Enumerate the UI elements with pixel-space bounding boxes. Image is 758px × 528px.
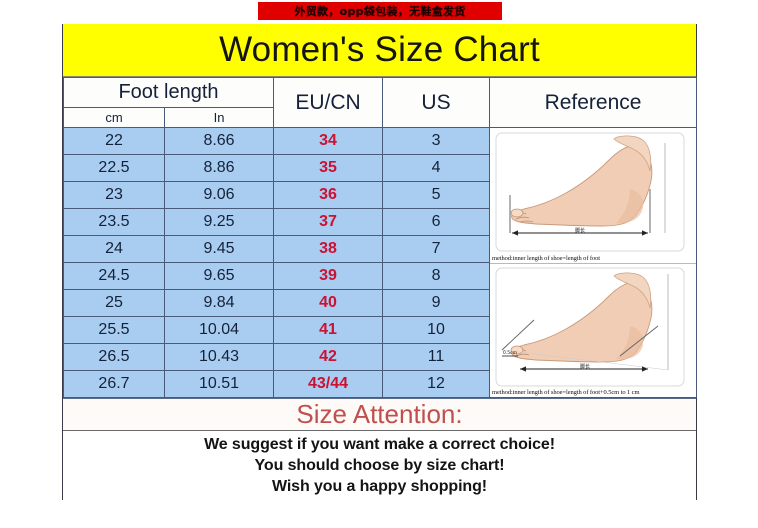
header-in: In: [165, 108, 274, 128]
cell-us: 12: [383, 371, 490, 398]
reference-caption-1: method:inner length of shoe=length of fo…: [492, 255, 600, 262]
promo-banner-text: 外贸款，opp袋包装，无鞋盒发货: [294, 3, 465, 19]
cell-cm: 25.5: [64, 317, 165, 344]
size-chart: Women's Size Chart Foot length EU/CN US …: [62, 24, 697, 500]
header-foot-length: Foot length: [64, 78, 274, 108]
cell-cm: 25: [64, 290, 165, 317]
cell-in: 9.06: [165, 182, 274, 209]
cell-in: 9.45: [165, 236, 274, 263]
svg-text:0.5cm: 0.5cm: [503, 350, 518, 356]
cell-in: 9.25: [165, 209, 274, 236]
chart-title-bar: Women's Size Chart: [63, 24, 696, 77]
attention-line-1: We suggest if you want make a correct ch…: [204, 436, 555, 454]
table-body: 22 8.66 34 3: [64, 128, 697, 398]
cell-eu-cn: 40: [274, 290, 383, 317]
attention-line-2: You should choose by size chart!: [255, 457, 505, 475]
cell-eu-cn: 37: [274, 209, 383, 236]
page-title: Women's Size Chart: [219, 30, 540, 70]
size-attention-heading: Size Attention:: [296, 399, 462, 430]
cell-cm: 22: [64, 128, 165, 155]
reference-images-cell: 脚长 method:inner length of shoe=length of…: [490, 128, 697, 398]
cell-us: 3: [383, 128, 490, 155]
cell-eu-cn: 36: [274, 182, 383, 209]
cell-cm: 24: [64, 236, 165, 263]
cell-eu-cn: 34: [274, 128, 383, 155]
table-row: 22 8.66 34 3: [64, 128, 697, 155]
cell-us: 11: [383, 344, 490, 371]
cell-us: 6: [383, 209, 490, 236]
header-eu-cn: EU/CN: [274, 78, 383, 128]
cell-in: 8.86: [165, 155, 274, 182]
reference-panel-2: 0.5cm 脚长 method:inner length of shoe=len…: [490, 263, 696, 397]
cell-in: 10.04: [165, 317, 274, 344]
promo-banner: 外贸款，opp袋包装，无鞋盒发货: [258, 2, 502, 20]
cell-cm: 23: [64, 182, 165, 209]
cell-cm: 26.5: [64, 344, 165, 371]
table-header: Foot length EU/CN US Reference cm In: [64, 78, 697, 128]
cell-us: 4: [383, 155, 490, 182]
cell-eu-cn: 41: [274, 317, 383, 344]
size-chart-table: Foot length EU/CN US Reference cm In 22 …: [63, 77, 697, 398]
cell-us: 8: [383, 263, 490, 290]
svg-text:脚长: 脚长: [580, 363, 590, 370]
reference-box: 脚长 method:inner length of shoe=length of…: [490, 129, 696, 397]
cell-cm: 24.5: [64, 263, 165, 290]
size-attention-notes: We suggest if you want make a correct ch…: [63, 431, 696, 500]
cell-eu-cn: 43/44: [274, 371, 383, 398]
reference-panel-1: 脚长 method:inner length of shoe=length of…: [490, 129, 696, 263]
header-cm: cm: [64, 108, 165, 128]
foot-measure-diagram-1: 脚长: [490, 129, 695, 263]
cell-us: 7: [383, 236, 490, 263]
cell-us: 5: [383, 182, 490, 209]
svg-text:脚长: 脚长: [575, 227, 585, 234]
table-header-row-1: Foot length EU/CN US Reference: [64, 78, 697, 108]
cell-eu-cn: 39: [274, 263, 383, 290]
cell-in: 9.65: [165, 263, 274, 290]
cell-cm: 22.5: [64, 155, 165, 182]
cell-eu-cn: 38: [274, 236, 383, 263]
cell-cm: 26.7: [64, 371, 165, 398]
cell-in: 10.51: [165, 371, 274, 398]
reference-caption-2: method:inner length of shoe=length of fo…: [492, 389, 639, 396]
cell-eu-cn: 42: [274, 344, 383, 371]
cell-in: 10.43: [165, 344, 274, 371]
cell-us: 10: [383, 317, 490, 344]
header-us: US: [383, 78, 490, 128]
cell-cm: 23.5: [64, 209, 165, 236]
cell-eu-cn: 35: [274, 155, 383, 182]
attention-line-3: Wish you a happy shopping!: [272, 478, 487, 496]
cell-in: 9.84: [165, 290, 274, 317]
cell-us: 9: [383, 290, 490, 317]
cell-in: 8.66: [165, 128, 274, 155]
size-attention-bar: Size Attention:: [63, 398, 696, 431]
foot-measure-diagram-2: 0.5cm 脚长: [490, 264, 695, 397]
header-reference: Reference: [490, 78, 697, 128]
